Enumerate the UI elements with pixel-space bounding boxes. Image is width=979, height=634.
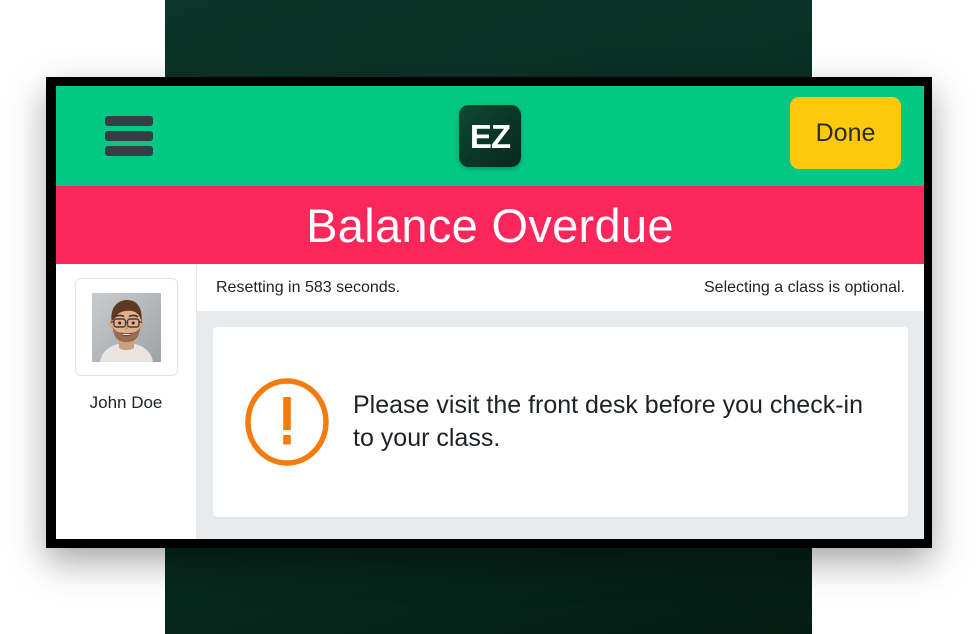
hamburger-bar-1 xyxy=(105,116,153,126)
warning-exclamation-icon xyxy=(243,378,331,466)
member-avatar-photo xyxy=(92,293,161,362)
alert-card: Please visit the front desk before you c… xyxy=(213,327,908,517)
hamburger-bar-2 xyxy=(105,131,153,141)
app-screen: EZ Done Balance Overdue xyxy=(56,86,924,539)
avatar[interactable] xyxy=(75,278,178,376)
main-content: Resetting in 583 seconds. Selecting a cl… xyxy=(197,264,924,539)
app-header: EZ Done xyxy=(56,86,924,186)
hamburger-bar-3 xyxy=(105,146,153,156)
done-button[interactable]: Done xyxy=(790,97,901,169)
member-sidebar: John Doe xyxy=(56,264,197,539)
class-optional-text: Selecting a class is optional. xyxy=(704,279,905,297)
app-body: John Doe Resetting in 583 seconds. Selec… xyxy=(56,264,924,539)
ez-logo-text: EZ xyxy=(470,120,510,153)
ez-logo: EZ xyxy=(459,105,521,167)
banner-title: Balance Overdue xyxy=(306,198,674,253)
member-name: John Doe xyxy=(56,393,196,413)
reset-timer-text: Resetting in 583 seconds. xyxy=(216,279,400,297)
content-status-bar: Resetting in 583 seconds. Selecting a cl… xyxy=(197,264,924,311)
balance-status-banner: Balance Overdue xyxy=(56,186,924,264)
hamburger-menu-icon[interactable] xyxy=(105,116,153,156)
alert-message: Please visit the front desk before you c… xyxy=(353,389,878,456)
content-inner: Please visit the front desk before you c… xyxy=(197,311,924,539)
